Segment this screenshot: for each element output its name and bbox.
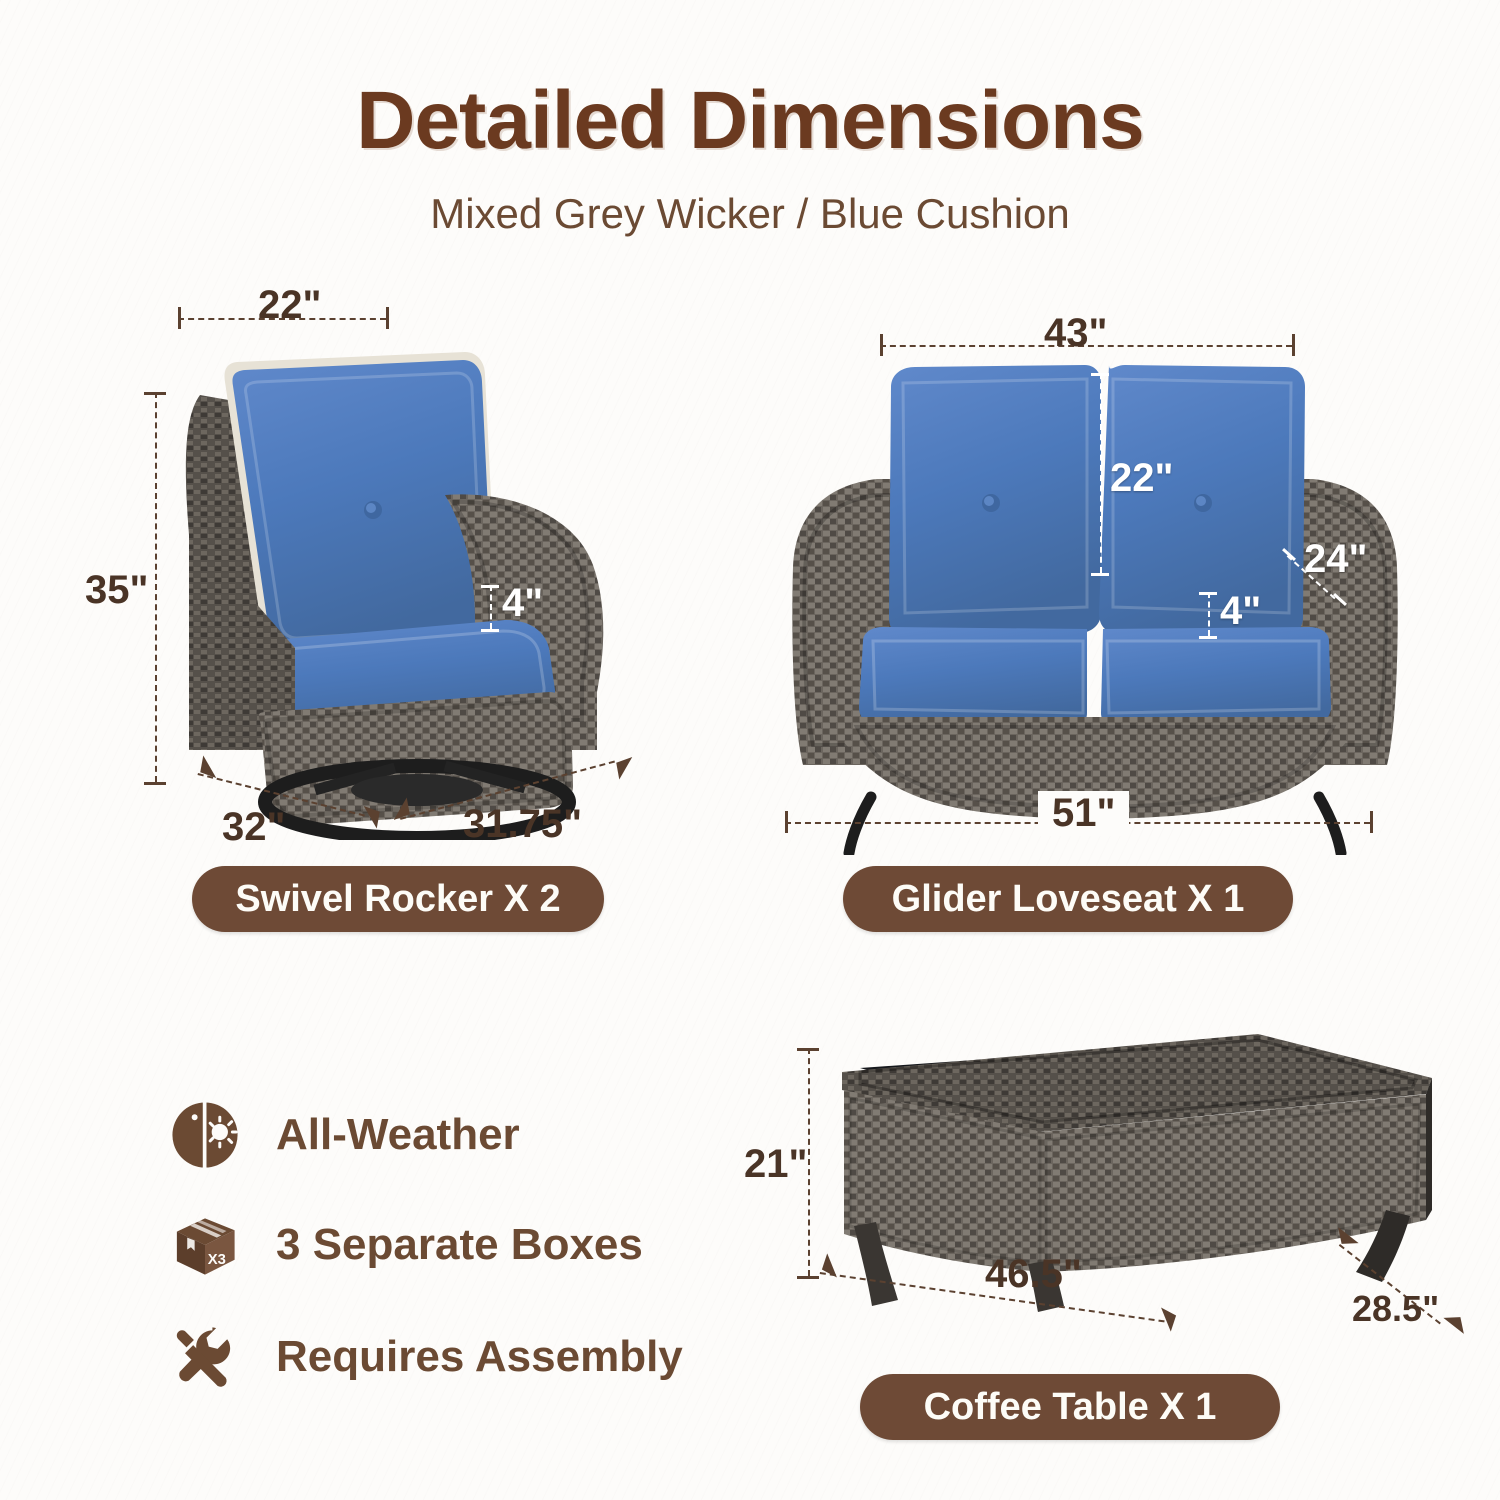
dimension-line-back-height	[1100, 373, 1102, 573]
dimension-cap	[481, 629, 499, 632]
dimension-line-height	[808, 1048, 810, 1276]
dimension-cap	[178, 307, 181, 329]
product-label-glider-loveseat: Glider Loveseat X 1	[843, 866, 1293, 932]
feature-separate-boxes: X3 3 Separate Boxes	[168, 1208, 643, 1282]
dimension-cap	[1199, 592, 1217, 595]
dimension-cap	[1091, 573, 1109, 576]
dimension-label-back-width: 43"	[1044, 311, 1107, 356]
dimension-cap	[1199, 636, 1217, 639]
page-subtitle: Mixed Grey Wicker / Blue Cushion	[0, 190, 1500, 238]
dimension-label-height: 35"	[85, 568, 148, 613]
dimension-label-cushion: 4"	[502, 581, 543, 626]
feature-all-weather: All-Weather	[168, 1098, 520, 1172]
product-label-swivel-rocker: Swivel Rocker X 2	[192, 866, 604, 932]
product-label-coffee-table: Coffee Table X 1	[860, 1374, 1280, 1440]
dimension-line-cushion	[1208, 592, 1210, 636]
dimension-cap	[797, 1276, 819, 1279]
dimension-cap	[880, 334, 883, 356]
tools-icon	[168, 1320, 242, 1394]
dimension-label-back-height: 22"	[1110, 456, 1173, 501]
dimension-label-depth-right: 31.75"	[463, 802, 582, 847]
dimension-cap	[1091, 373, 1109, 376]
dimension-cap	[144, 782, 166, 785]
dimension-line-cushion	[490, 585, 492, 629]
feature-requires-assembly: Requires Assembly	[168, 1320, 683, 1394]
feature-label: 3 Separate Boxes	[276, 1220, 643, 1270]
feature-label: All-Weather	[276, 1110, 520, 1160]
dimension-label-depth-left: 32"	[222, 805, 285, 850]
box-x3-icon: X3	[168, 1208, 242, 1282]
dimension-cap	[481, 585, 499, 588]
dimension-arrow	[1443, 1309, 1470, 1334]
dimension-label-overall-width: 51"	[1038, 791, 1129, 836]
dimension-cap	[1292, 334, 1295, 356]
dimension-cap	[1370, 811, 1373, 833]
dimension-label-cushion: 4"	[1220, 589, 1261, 634]
dimension-cap	[144, 392, 166, 395]
dimension-line-height	[155, 392, 157, 782]
dimension-cap	[785, 811, 788, 833]
dimension-cap	[797, 1048, 819, 1051]
dimension-cap	[386, 307, 389, 329]
infographic-page: Detailed Dimensions Mixed Grey Wicker / …	[0, 0, 1500, 1500]
dimension-label-seat-depth: 24"	[1304, 537, 1367, 582]
day-night-icon	[168, 1098, 242, 1172]
svg-text:X3: X3	[208, 1252, 226, 1268]
page-title: Detailed Dimensions	[0, 74, 1500, 168]
dimension-label-depth: 28.5"	[1352, 1288, 1439, 1330]
feature-label: Requires Assembly	[276, 1332, 683, 1382]
dimension-label-height: 21"	[744, 1142, 807, 1187]
glider-loveseat-image	[785, 345, 1405, 855]
coffee-table-image	[820, 1020, 1440, 1330]
dimension-label-width: 22"	[258, 283, 321, 328]
swivel-rocker-image	[145, 320, 665, 840]
dimension-label-length: 46.5"	[985, 1252, 1082, 1297]
